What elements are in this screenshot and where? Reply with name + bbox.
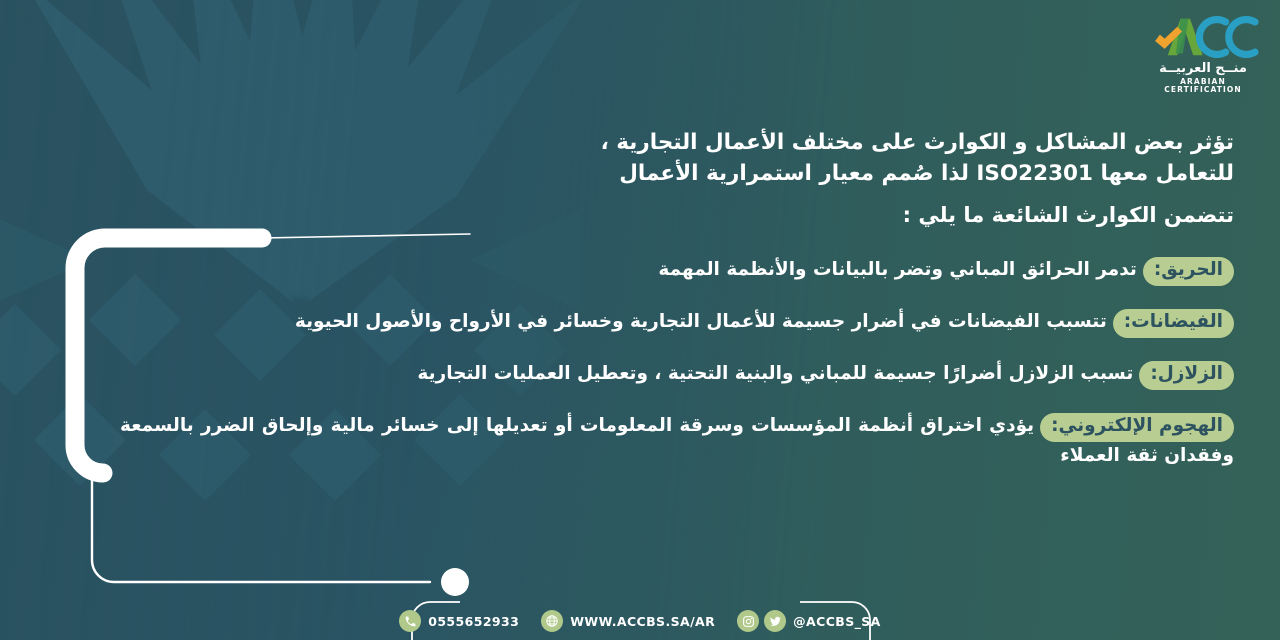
website-url: WWW.ACCBS.SA/AR bbox=[570, 614, 715, 629]
headline-line-1: تؤثر بعض المشاكل و الكوارث على مختلف الأ… bbox=[120, 128, 1234, 159]
brand-logo: منــح العربيــة ARABIAN CERTIFICATION bbox=[1144, 14, 1262, 93]
item-badge: الحريق: bbox=[1143, 257, 1234, 286]
subheading: تتضمن الكوارث الشائعة ما يلي : bbox=[120, 201, 1234, 230]
item-badge: الفيضانات: bbox=[1113, 309, 1234, 338]
contact-phone[interactable]: 0555652933 bbox=[399, 610, 519, 632]
headline-line-2: للتعامل معها ISO22301 لذا صُمم معيار است… bbox=[120, 159, 1234, 190]
twitter-icon[interactable] bbox=[764, 610, 786, 632]
iso-standard-label: ISO22301 bbox=[976, 161, 1093, 186]
list-item: الحريق:تدمر الحرائق المباني وتضر بالبيان… bbox=[120, 256, 1234, 286]
headline-line-2-prefix: للتعامل معها bbox=[1093, 161, 1234, 186]
contact-website[interactable]: WWW.ACCBS.SA/AR bbox=[541, 610, 715, 632]
logo-name-english: ARABIAN CERTIFICATION bbox=[1144, 78, 1262, 93]
social-handle: @ACCBS_SA bbox=[793, 614, 881, 629]
instagram-icon[interactable] bbox=[737, 610, 759, 632]
list-item: الهجوم الإلكتروني:يؤدي اختراق أنظمة المؤ… bbox=[120, 412, 1234, 471]
list-item: الزلازل:تسبب الزلازل أضرارًا جسيمة للمبا… bbox=[120, 360, 1234, 390]
phone-number: 0555652933 bbox=[428, 614, 519, 629]
logo-name-arabic: منــح العربيــة bbox=[1144, 62, 1262, 76]
contact-social[interactable]: @ACCBS_SA bbox=[737, 610, 881, 632]
list-item: الفيضانات:تتسبب الفيضانات في أضرار جسيمة… bbox=[120, 308, 1234, 338]
headline-line-2-suffix: لذا صُمم معيار استمرارية الأعمال bbox=[619, 161, 976, 186]
item-badge: الزلازل: bbox=[1139, 361, 1234, 390]
infographic-poster: منــح العربيــة ARABIAN CERTIFICATION تؤ… bbox=[0, 0, 1280, 640]
item-body: تسبب الزلازل أضرارًا جسيمة للمباني والبن… bbox=[417, 363, 1133, 384]
disaster-list: الحريق:تدمر الحرائق المباني وتضر بالبيان… bbox=[120, 256, 1234, 471]
acc-logo-icon bbox=[1144, 14, 1263, 60]
footer-contact-bar: 0555652933 WWW.ACCBS.SA/AR bbox=[0, 610, 1280, 632]
item-body: تدمر الحرائق المباني وتضر بالبيانات والأ… bbox=[658, 259, 1136, 280]
phone-icon bbox=[399, 610, 421, 632]
item-body: تتسبب الفيضانات في أضرار جسيمة للأعمال ا… bbox=[295, 311, 1107, 332]
main-content: تؤثر بعض المشاكل و الكوارث على مختلف الأ… bbox=[120, 128, 1234, 493]
item-badge: الهجوم الإلكتروني: bbox=[1040, 413, 1234, 442]
globe-icon bbox=[541, 610, 563, 632]
social-icons bbox=[737, 610, 786, 632]
headline-block: تؤثر بعض المشاكل و الكوارث على مختلف الأ… bbox=[120, 128, 1234, 189]
